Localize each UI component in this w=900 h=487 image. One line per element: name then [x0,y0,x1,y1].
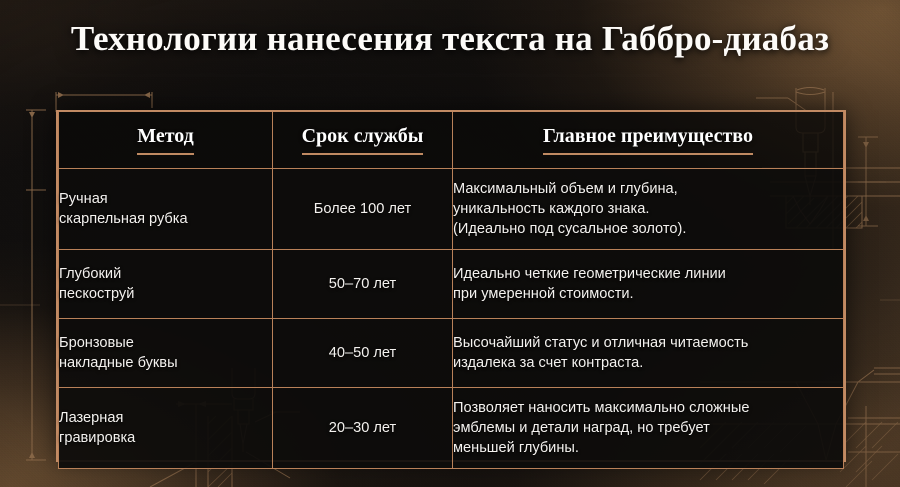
cell-main-advantage: Высочайший статус и отличная читаемость … [453,319,844,388]
cell-main-advantage: Позволяет наносить максимально сложные э… [453,388,844,469]
column-header-main-advantage-label: Главное преимущество [543,125,753,155]
table-row: Глубокий пескоструй 50–70 лет Идеально ч… [59,250,844,319]
advantage-line-1: Максимальный объем и глубина, [453,181,678,197]
cell-service-life: 40–50 лет [273,319,453,388]
cell-method: Ручная скарпельная рубка [59,169,273,250]
advantage-line-1: Позволяет наносить максимально сложные [453,400,749,416]
advantage-line-2: издалека за счет контраста. [453,355,643,371]
column-header-service-life-label: Срок службы [302,125,424,155]
method-line-1: Глубокий [59,266,121,282]
cell-service-life: 20–30 лет [273,388,453,469]
service-life-value: 50–70 лет [329,276,396,292]
page-title: Технологии нанесения текста на Габбро-ди… [0,19,900,59]
method-line-1: Лазерная [59,410,123,426]
method-line-2: пескоструй [59,286,134,302]
column-header-method-label: Метод [137,125,194,155]
advantage-line-3: меньшей глубины. [453,440,579,456]
service-life-value: 20–30 лет [329,420,396,436]
cell-main-advantage: Идеально четкие геометрические линии при… [453,250,844,319]
table-row: Бронзовые накладные буквы 40–50 лет Высо… [59,319,844,388]
table-header-row: Метод Срок службы Главное преимущество [59,112,844,169]
cell-service-life: 50–70 лет [273,250,453,319]
column-header-method: Метод [59,112,273,169]
advantage-line-1: Идеально четкие геометрические линии [453,266,726,282]
advantage-line-2: эмблемы и детали наград, но требует [453,420,710,436]
method-line-2: накладные буквы [59,355,178,371]
cell-method: Лазерная гравировка [59,388,273,469]
column-header-service-life: Срок службы [273,112,453,169]
cell-service-life: Более 100 лет [273,169,453,250]
advantage-line-3: (Идеально под сусальное золото). [453,221,686,237]
table-row: Лазерная гравировка 20–30 лет Позволяет … [59,388,844,469]
service-life-value: 40–50 лет [329,345,396,361]
cell-method: Глубокий пескоструй [59,250,273,319]
table-row: Ручная скарпельная рубка Более 100 лет М… [59,169,844,250]
cell-main-advantage: Максимальный объем и глубина, уникальнос… [453,169,844,250]
advantage-line-2: уникальность каждого знака. [453,201,649,217]
comparison-table: Метод Срок службы Главное преимущество Р… [56,110,846,462]
method-line-1: Ручная [59,191,108,207]
service-life-value: Более 100 лет [314,201,411,217]
cell-method: Бронзовые накладные буквы [59,319,273,388]
method-line-1: Бронзовые [59,335,134,351]
column-header-main-advantage: Главное преимущество [453,112,844,169]
advantage-line-1: Высочайший статус и отличная читаемость [453,335,748,351]
method-line-2: скарпельная рубка [59,211,188,227]
poster-root: Технологии нанесения текста на Габбро-ди… [0,0,900,487]
advantage-line-2: при умеренной стоимости. [453,286,634,302]
method-line-2: гравировка [59,430,135,446]
